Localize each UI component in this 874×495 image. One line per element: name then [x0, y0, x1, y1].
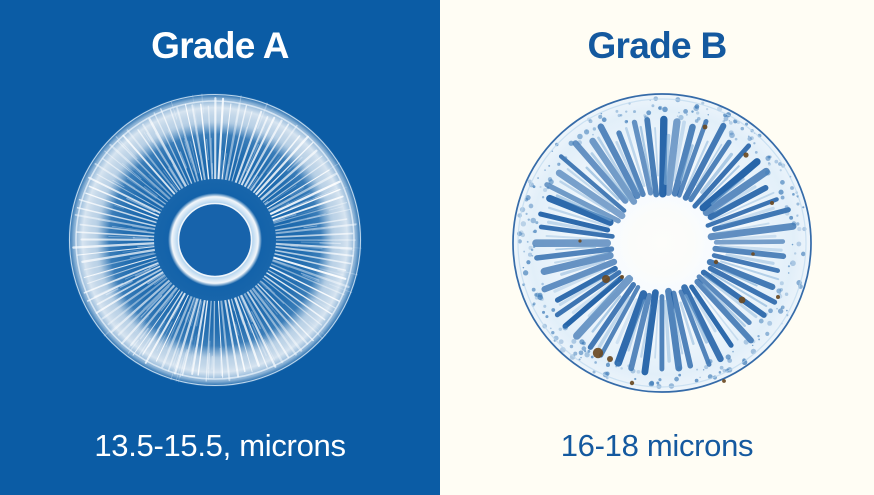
grade-a-disc-graphic [68, 93, 362, 387]
panel-caption-grade-a: 13.5-15.5, microns [0, 430, 440, 461]
panel-title-grade-b: Grade B [587, 27, 726, 64]
fiber-cross-section-grade-a [68, 93, 362, 387]
panel-grade-a: Grade A [0, 0, 440, 495]
fiber-cross-section-grade-b [510, 91, 814, 395]
panel-grade-b: Grade B [440, 0, 874, 495]
panel-caption-grade-b: 16-18 microns [440, 430, 874, 461]
comparison-figure: Grade A [0, 0, 874, 495]
grade-b-disc-graphic [510, 91, 814, 395]
panel-title-grade-a: Grade A [151, 27, 289, 64]
